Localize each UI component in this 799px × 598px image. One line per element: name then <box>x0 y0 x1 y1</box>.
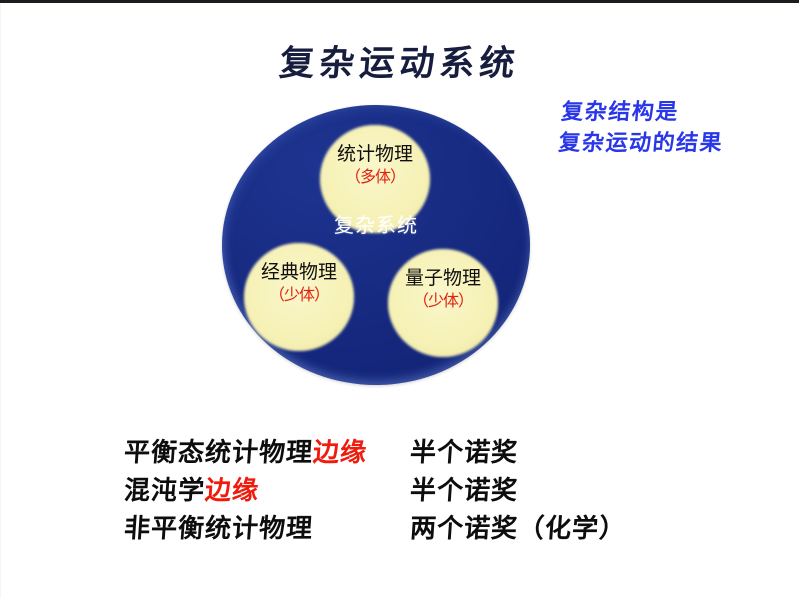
blue-annotation-note: 复杂结构是 复杂运动的结果 <box>557 96 797 158</box>
bottom-line-1-topic: 平衡态统计物理 <box>123 438 314 467</box>
blue-note-line-2: 复杂运动的结果 <box>557 127 795 158</box>
left-border-strip <box>0 3 1 598</box>
bottom-line-2: 混沌学边缘 半个诺奖 <box>123 472 766 510</box>
bottom-line-1-tag: 边缘 <box>312 438 368 467</box>
lobe-quantum-physics <box>388 249 498 357</box>
slide-canvas: 复杂运动系统 复杂结构是 复杂运动的结果 统计物理 （多体） 经典物理 （少体）… <box>0 0 799 598</box>
complex-system-diagram: 统计物理 （多体） 经典物理 （少体） 量子物理 （少体） 复杂系统 <box>220 103 532 387</box>
outer-circle-label: 复杂系统 <box>311 213 441 239</box>
bottom-line-2-award: 半个诺奖 <box>409 472 520 510</box>
blue-note-line-1: 复杂结构是 <box>560 96 798 127</box>
bottom-line-2-tag: 边缘 <box>204 476 260 505</box>
lobe-classical-physics <box>244 243 354 351</box>
bottom-line-1-award: 半个诺奖 <box>409 434 520 472</box>
bottom-line-3-award: 两个诺奖（化学） <box>409 510 628 548</box>
lobe-left-fill <box>244 243 354 351</box>
bottom-text-block: 平衡态统计物理边缘 半个诺奖 混沌学边缘 半个诺奖 非平衡统计物理 两个诺奖（化… <box>124 434 764 548</box>
top-border-strip <box>0 0 799 3</box>
bottom-line-1: 平衡态统计物理边缘 半个诺奖 <box>123 434 766 472</box>
page-title: 复杂运动系统 <box>0 42 799 86</box>
bottom-line-3-topic: 非平衡统计物理 <box>123 514 314 543</box>
bottom-line-3: 非平衡统计物理 两个诺奖（化学） <box>123 510 766 548</box>
bottom-line-2-topic: 混沌学 <box>123 476 206 505</box>
lobe-right-fill <box>388 249 498 357</box>
